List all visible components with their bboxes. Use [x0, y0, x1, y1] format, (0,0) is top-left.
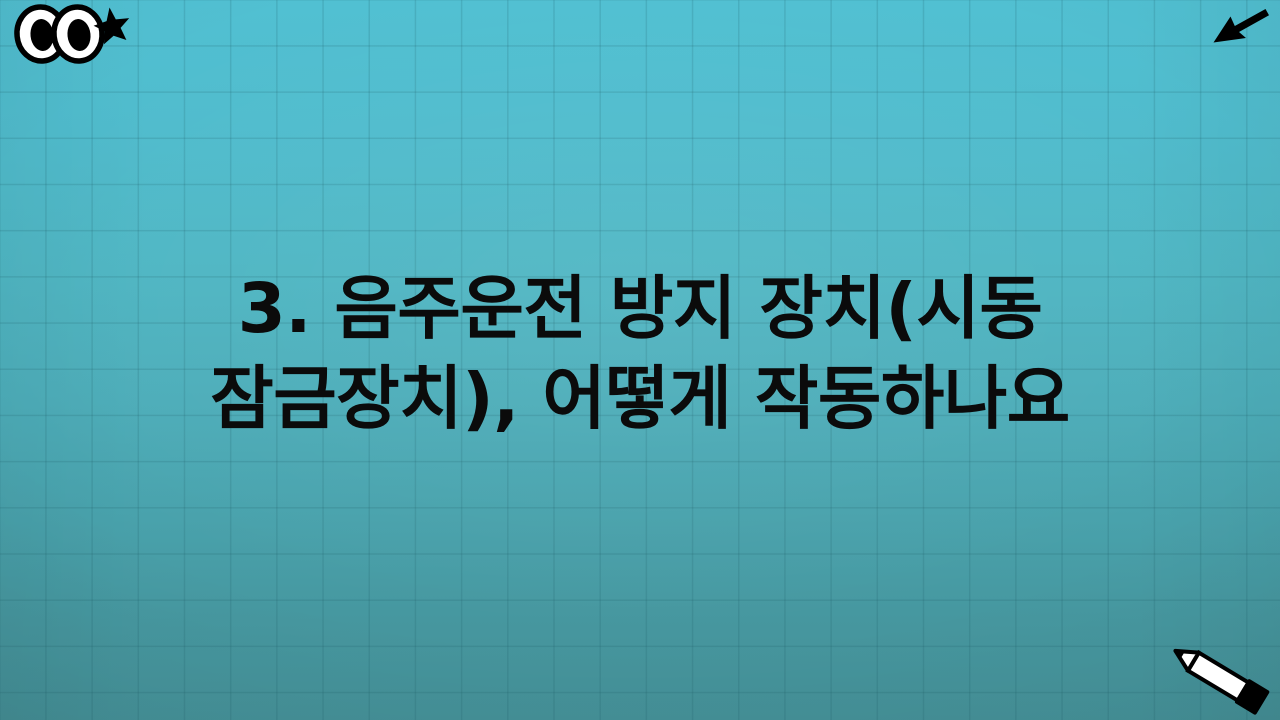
slide-canvas: 3. 음주운전 방지 장치(시동 잠금장치), 어떻게 작동하나요 — [0, 0, 1280, 720]
title-block: 3. 음주운전 방지 장치(시동 잠금장치), 어떻게 작동하나요 — [0, 0, 1280, 720]
page-title: 3. 음주운전 방지 장치(시동 잠금장치), 어떻게 작동하나요 — [210, 265, 1070, 444]
title-line-2: 잠금장치), 어떻게 작동하나요 — [210, 355, 1070, 443]
title-line-1: 3. 음주운전 방지 장치(시동 — [210, 265, 1070, 353]
